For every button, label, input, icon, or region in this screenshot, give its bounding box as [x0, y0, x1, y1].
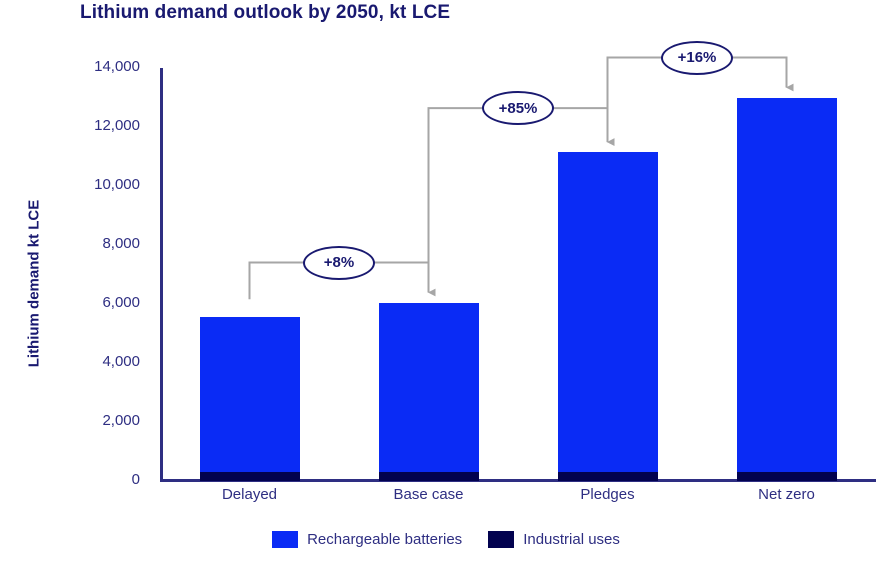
x-tick-label: Pledges — [518, 486, 698, 503]
y-axis-line — [160, 68, 163, 482]
bar-segment-industrial-uses[interactable] — [200, 472, 300, 481]
bar-pledges[interactable] — [558, 68, 658, 481]
x-tick-label: Delayed — [160, 486, 340, 503]
bar-segment-industrial-uses[interactable] — [737, 472, 837, 481]
bar-base-case[interactable] — [379, 68, 479, 481]
bar-segment-rechargeable-batteries[interactable] — [379, 303, 479, 473]
x-tick-label: Net zero — [697, 486, 877, 503]
legend-swatch — [488, 531, 514, 548]
x-tick-label: Base case — [339, 486, 519, 503]
y-tick-label: 6,000 — [52, 294, 140, 311]
annotation-label: +8% — [303, 246, 375, 280]
bar-segment-rechargeable-batteries[interactable] — [558, 152, 658, 472]
y-tick-label: 4,000 — [52, 353, 140, 370]
chart-legend: Rechargeable batteriesIndustrial uses — [0, 531, 892, 548]
y-tick-label: 14,000 — [52, 58, 140, 75]
annotation-label: +85% — [482, 91, 554, 125]
bar-segment-industrial-uses[interactable] — [379, 472, 479, 481]
legend-label: Industrial uses — [523, 531, 620, 548]
lithium-demand-chart: Lithium demand outlook by 2050, kt LCE L… — [0, 0, 892, 565]
bar-segment-rechargeable-batteries[interactable] — [200, 317, 300, 472]
annotation-label: +16% — [661, 41, 733, 75]
legend-item[interactable]: Rechargeable batteries — [272, 531, 462, 548]
legend-swatch — [272, 531, 298, 548]
legend-item[interactable]: Industrial uses — [488, 531, 620, 548]
y-tick-label: 10,000 — [52, 176, 140, 193]
bar-segment-industrial-uses[interactable] — [558, 472, 658, 481]
legend-label: Rechargeable batteries — [307, 531, 462, 548]
plot-area: 02,0004,0006,0008,00010,00012,00014,000 … — [0, 0, 892, 565]
y-tick-label: 8,000 — [52, 235, 140, 252]
y-tick-label: 12,000 — [52, 117, 140, 134]
y-tick-label: 2,000 — [52, 412, 140, 429]
bar-net-zero[interactable] — [737, 68, 837, 481]
bar-delayed[interactable] — [200, 68, 300, 481]
y-tick-label: 0 — [52, 471, 140, 488]
bar-segment-rechargeable-batteries[interactable] — [737, 98, 837, 473]
